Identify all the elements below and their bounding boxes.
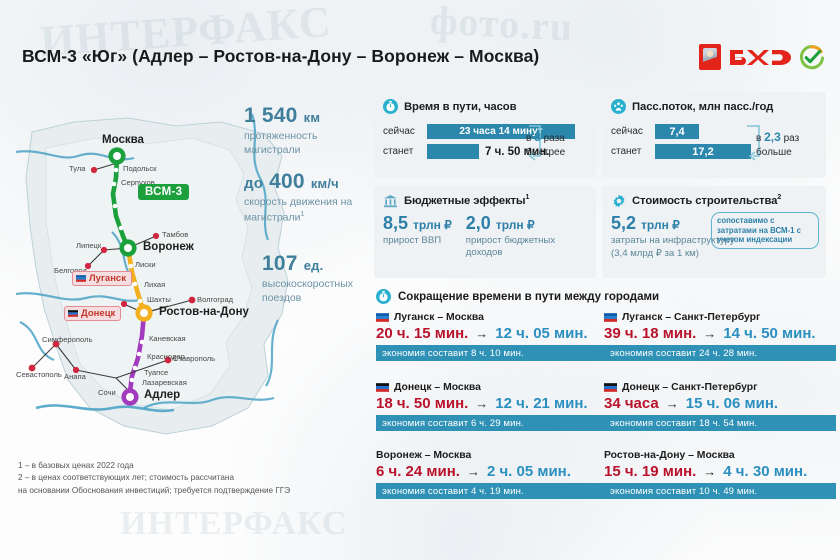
map-city-simferopol: Симферополь bbox=[42, 335, 92, 344]
budget-item-gdp: 8,5 трлн ₽ прирост ВВП bbox=[383, 213, 452, 260]
route-name: Ростов-на-Дону – Москва bbox=[604, 450, 836, 461]
map-badge-donetsk-label: Донецк bbox=[81, 308, 115, 319]
route-time-before: 15 ч. 19 мин. bbox=[604, 463, 696, 480]
route-card: Донецк – Москва 18 ч. 50 мин. → 12 ч. 21… bbox=[376, 382, 608, 431]
map-station-lazarevskaya: Лазаревская bbox=[142, 378, 187, 387]
row-future-label: станет bbox=[383, 146, 427, 157]
map-city-tambov: Тамбов bbox=[162, 230, 188, 239]
budget-revenue-value: 2,0 трлн ₽ bbox=[466, 213, 570, 234]
map-station-liski: Лиски bbox=[135, 260, 156, 269]
route-time-after: 12 ч. 21 мин. bbox=[495, 395, 587, 412]
panel-passenger-flow-rows: сейчас 7,4 станет 17,2 в 2,3 раз больше bbox=[602, 116, 826, 168]
route-time-before: 34 часа bbox=[604, 395, 659, 412]
route-time-before: 20 ч. 15 мин. bbox=[376, 325, 468, 342]
map-city-lipetsk: Липецк bbox=[76, 241, 101, 250]
route-saving: экономия составит 24 ч. 28 мин. bbox=[604, 345, 836, 361]
route-name: Донецк – Москва bbox=[376, 382, 608, 393]
arrow-icon: → bbox=[701, 464, 718, 479]
row-pf-future-label: станет bbox=[611, 146, 655, 157]
map-station-sochi: Сочи bbox=[98, 388, 116, 397]
map-station-kanevskaya: Каневская bbox=[149, 334, 186, 343]
route-time-before: 18 ч. 50 мин. bbox=[376, 395, 468, 412]
panel-passenger-flow-header: Пасс.поток, млн пасс./год bbox=[602, 92, 826, 116]
map-badge-vsm3: ВСМ-3 bbox=[138, 184, 189, 200]
arrow-icon: → bbox=[473, 326, 490, 341]
arrow-icon: → bbox=[473, 396, 490, 411]
map-station-tuapse: Туапсе bbox=[144, 368, 168, 377]
rzd-logo-icon bbox=[728, 46, 792, 68]
panel-travel-time-rows: сейчас 23 часа 14 минут станет 7 ч. 50 м… bbox=[374, 116, 596, 168]
route-saving: экономия составит 10 ч. 49 мин. bbox=[604, 483, 836, 499]
route-saving: экономия составит 6 ч. 29 мин. bbox=[376, 415, 608, 431]
panel-budget-effects: Бюджетные эффекты1 8,5 трлн ₽ прирост ВВ… bbox=[374, 186, 596, 278]
row-pf-future-bar: 17,2 bbox=[655, 144, 751, 159]
map-city-anapa: Анапа bbox=[64, 372, 86, 381]
route-time-after: 15 ч. 06 мин. bbox=[686, 395, 778, 412]
stat-trains: 107 ед. высокоскоростных поездов bbox=[262, 252, 387, 306]
gear-icon bbox=[611, 193, 626, 208]
passenger-flow-comparison: в 2,3 раз больше bbox=[756, 130, 818, 159]
footnote-1: 1 – в базовых ценах 2022 года bbox=[18, 460, 290, 472]
footnote-2: 2 – в ценах соответствующих лет; стоимос… bbox=[18, 472, 290, 484]
panel-travel-time: Время в пути, часов сейчас 23 часа 14 ми… bbox=[374, 92, 596, 178]
route-saving: экономия составит 4 ч. 19 мин. bbox=[376, 483, 608, 499]
passengers-icon bbox=[611, 99, 626, 114]
budget-item-revenue: 2,0 трлн ₽ прирост бюджетных доходов bbox=[466, 213, 570, 260]
moscow-coat-of-arms-icon bbox=[699, 44, 721, 70]
route-times: 39 ч. 18 мин. → 14 ч. 50 мин. bbox=[604, 325, 836, 342]
map-city-adler: Адлер bbox=[144, 389, 180, 401]
stat-length-caption: протяженность магистрали bbox=[244, 130, 369, 158]
stat-trains-caption: высокоскоростных поездов bbox=[262, 278, 387, 306]
infographic-page: ИНТЕРФАКС фото.ru ИНТЕРФАКС ВСМ-3 «Юг» (… bbox=[0, 0, 840, 560]
map-badge-lugansk-label: Луганск bbox=[89, 273, 126, 284]
stopwatch-icon bbox=[383, 99, 398, 114]
route-name-label: Воронеж – Москва bbox=[376, 450, 471, 461]
map-city-stavropol: Ставрополь bbox=[173, 354, 215, 363]
panel-travel-time-header: Время в пути, часов bbox=[374, 92, 596, 116]
route-name-label: Донецк – Москва bbox=[394, 382, 481, 393]
panel-budget-title: Бюджетные эффекты1 bbox=[404, 194, 529, 207]
green-check-logo-icon bbox=[799, 45, 824, 70]
map-city-moscow: Москва bbox=[102, 134, 144, 146]
route-time-after: 14 ч. 50 мин. bbox=[723, 325, 815, 342]
stat-length: 1 540 км протяженность магистрали bbox=[244, 104, 369, 158]
lnr-flag-icon bbox=[376, 313, 389, 322]
dnr-flag-icon bbox=[68, 310, 78, 317]
route-name-label: Ростов-на-Дону – Москва bbox=[604, 450, 735, 461]
arrow-icon: → bbox=[465, 464, 482, 479]
map-city-sevastopol: Севастополь bbox=[16, 370, 62, 379]
stat-speed-caption: скорость движения на магистрали1 bbox=[244, 196, 369, 225]
map-station-likhaya: Лихая bbox=[144, 280, 165, 289]
route-card: Луганск – Москва 20 ч. 15 мин. → 12 ч. 0… bbox=[376, 312, 608, 361]
row-pf-now-bar: 7,4 bbox=[655, 124, 699, 139]
travel-time-comparison: в 3 раза быстрее bbox=[526, 130, 588, 159]
route-card: Донецк – Санкт-Петербург 34 часа → 15 ч.… bbox=[604, 382, 836, 431]
route-time-after: 4 ч. 30 мин. bbox=[723, 463, 807, 480]
lnr-flag-icon bbox=[76, 275, 86, 282]
map-station-podolsk: Подольск bbox=[123, 164, 157, 173]
route-time-before: 6 ч. 24 мин. bbox=[376, 463, 460, 480]
route-saving: экономия составит 8 ч. 10 мин. bbox=[376, 345, 608, 361]
panel-travel-time-title: Время в пути, часов bbox=[404, 101, 516, 113]
route-name: Донецк – Санкт-Петербург bbox=[604, 382, 836, 393]
budget-items: 8,5 трлн ₽ прирост ВВП 2,0 трлн ₽ прирос… bbox=[374, 210, 596, 268]
row-future-bar bbox=[427, 144, 479, 159]
route-times: 6 ч. 24 мин. → 2 ч. 05 мин. bbox=[376, 463, 608, 480]
map-city-rostov: Ростов-на-Дону bbox=[159, 306, 249, 318]
dnr-flag-icon bbox=[604, 383, 617, 392]
watermark-text: фото.ru bbox=[429, 0, 575, 51]
panel-passenger-flow: Пасс.поток, млн пасс./год сейчас 7,4 ста… bbox=[602, 92, 826, 178]
budget-gdp-caption: прирост ВВП bbox=[383, 235, 452, 247]
route-saving: экономия составит 18 ч. 54 мин. bbox=[604, 415, 836, 431]
route-times: 20 ч. 15 мин. → 12 ч. 05 мин. bbox=[376, 325, 608, 342]
route-name-label: Донецк – Санкт-Петербург bbox=[622, 382, 757, 393]
routes-section-header: Сокращение времени в пути между городами bbox=[376, 289, 659, 304]
route-name-label: Луганск – Санкт-Петербург bbox=[622, 312, 760, 323]
logo-group bbox=[699, 44, 824, 70]
map-station-shakhty: Шахты bbox=[147, 295, 171, 304]
map-city-voronezh: Воронеж bbox=[143, 241, 194, 253]
map-badge-lugansk: Луганск bbox=[72, 271, 132, 286]
map-city-volgograd: Волгоград bbox=[197, 295, 233, 304]
dnr-flag-icon bbox=[376, 383, 389, 392]
route-name: Воронеж – Москва bbox=[376, 450, 608, 461]
routes-section-title: Сокращение времени в пути между городами bbox=[398, 291, 659, 303]
route-name: Луганск – Москва bbox=[376, 312, 608, 323]
budget-revenue-caption: прирост бюджетных доходов bbox=[466, 235, 570, 260]
route-card: Ростов-на-Дону – Москва 15 ч. 19 мин. → … bbox=[604, 450, 836, 499]
route-name-label: Луганск – Москва bbox=[394, 312, 484, 323]
bank-icon bbox=[383, 193, 398, 208]
lnr-flag-icon bbox=[604, 313, 617, 322]
map-badge-donetsk: Донецк bbox=[64, 306, 121, 321]
stat-speed: до 400 км/ч скорость движения на магистр… bbox=[244, 170, 369, 225]
panel-cost-header: Стоимость строительства2 bbox=[602, 186, 826, 210]
panel-cost-title: Стоимость строительства2 bbox=[632, 194, 781, 207]
arrow-icon: → bbox=[664, 396, 681, 411]
panel-construction-cost: Стоимость строительства2 5,2 трлн ₽ затр… bbox=[602, 186, 826, 278]
route-times: 15 ч. 19 мин. → 4 ч. 30 мин. bbox=[604, 463, 836, 480]
stat-trains-value: 107 ед. bbox=[262, 252, 387, 276]
stopwatch-icon bbox=[376, 289, 391, 304]
route-time-after: 12 ч. 05 мин. bbox=[495, 325, 587, 342]
map-city-tula: Тула bbox=[69, 164, 86, 173]
route-name: Луганск – Санкт-Петербург bbox=[604, 312, 836, 323]
footnotes: 1 – в базовых ценах 2022 года 2 – в цена… bbox=[18, 460, 290, 497]
budget-gdp-value: 8,5 трлн ₽ bbox=[383, 213, 452, 234]
row-now-label: сейчас bbox=[383, 126, 427, 137]
cost-caption-2: (3,4 млрд ₽ за 1 км) bbox=[611, 248, 761, 260]
route-time-before: 39 ч. 18 мин. bbox=[604, 325, 696, 342]
panel-budget-header: Бюджетные эффекты1 bbox=[374, 186, 596, 210]
route-card: Воронеж – Москва 6 ч. 24 мин. → 2 ч. 05 … bbox=[376, 450, 608, 499]
watermark-text: ИНТЕРФАКС bbox=[120, 505, 347, 543]
route-times: 18 ч. 50 мин. → 12 ч. 21 мин. bbox=[376, 395, 608, 412]
route-times: 34 часа → 15 ч. 06 мин. bbox=[604, 395, 836, 412]
arrow-icon: → bbox=[701, 326, 718, 341]
route-card: Луганск – Санкт-Петербург 39 ч. 18 мин. … bbox=[604, 312, 836, 361]
stat-length-value: 1 540 км bbox=[244, 104, 369, 128]
route-time-after: 2 ч. 05 мин. bbox=[487, 463, 571, 480]
panel-passenger-flow-title: Пасс.поток, млн пасс./год bbox=[632, 101, 773, 113]
stat-speed-value: до 400 км/ч bbox=[244, 170, 369, 194]
footnote-3: на основании Обоснования инвестиций; тре… bbox=[18, 485, 290, 497]
cost-callout: сопоставимо с затратами на ВСМ-1 с учето… bbox=[711, 212, 819, 249]
row-pf-now-label: сейчас bbox=[611, 126, 655, 137]
